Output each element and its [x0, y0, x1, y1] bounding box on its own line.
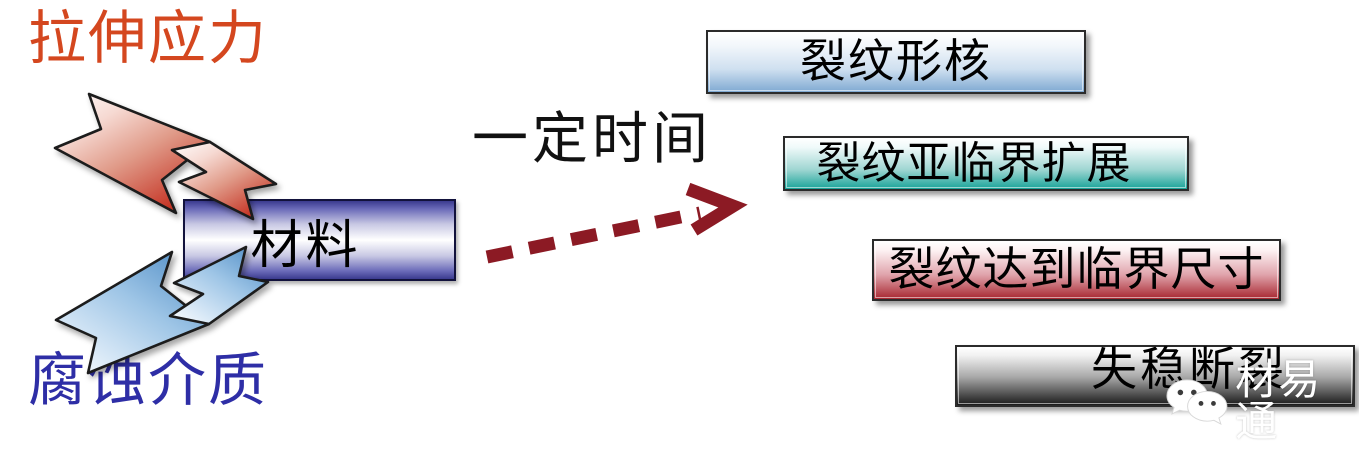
stage-box-label: 裂纹达到临界尺寸 [889, 247, 1265, 293]
stage-box-label: 失稳断裂 [1091, 347, 1287, 393]
dashed-transition-arrow [487, 189, 733, 257]
diagram-canvas: 拉伸应力 腐蚀介质 一定时间 材料 [0, 0, 1359, 451]
stage-box-unstable-fracture[interactable]: 失稳断裂 [955, 345, 1355, 407]
stage-box-crack-nucleation[interactable]: 裂纹形核 [706, 30, 1086, 94]
corrosive-medium-arrow [56, 247, 268, 373]
stage-box-label: 裂纹亚临界扩展 [817, 142, 1132, 186]
stage-box-critical-size[interactable]: 裂纹达到临界尺寸 [872, 239, 1281, 301]
stage-box-subcritical-growth[interactable]: 裂纹亚临界扩展 [783, 136, 1189, 191]
stage-box-label: 裂纹形核 [800, 39, 992, 85]
tensile-stress-arrow [55, 94, 276, 219]
